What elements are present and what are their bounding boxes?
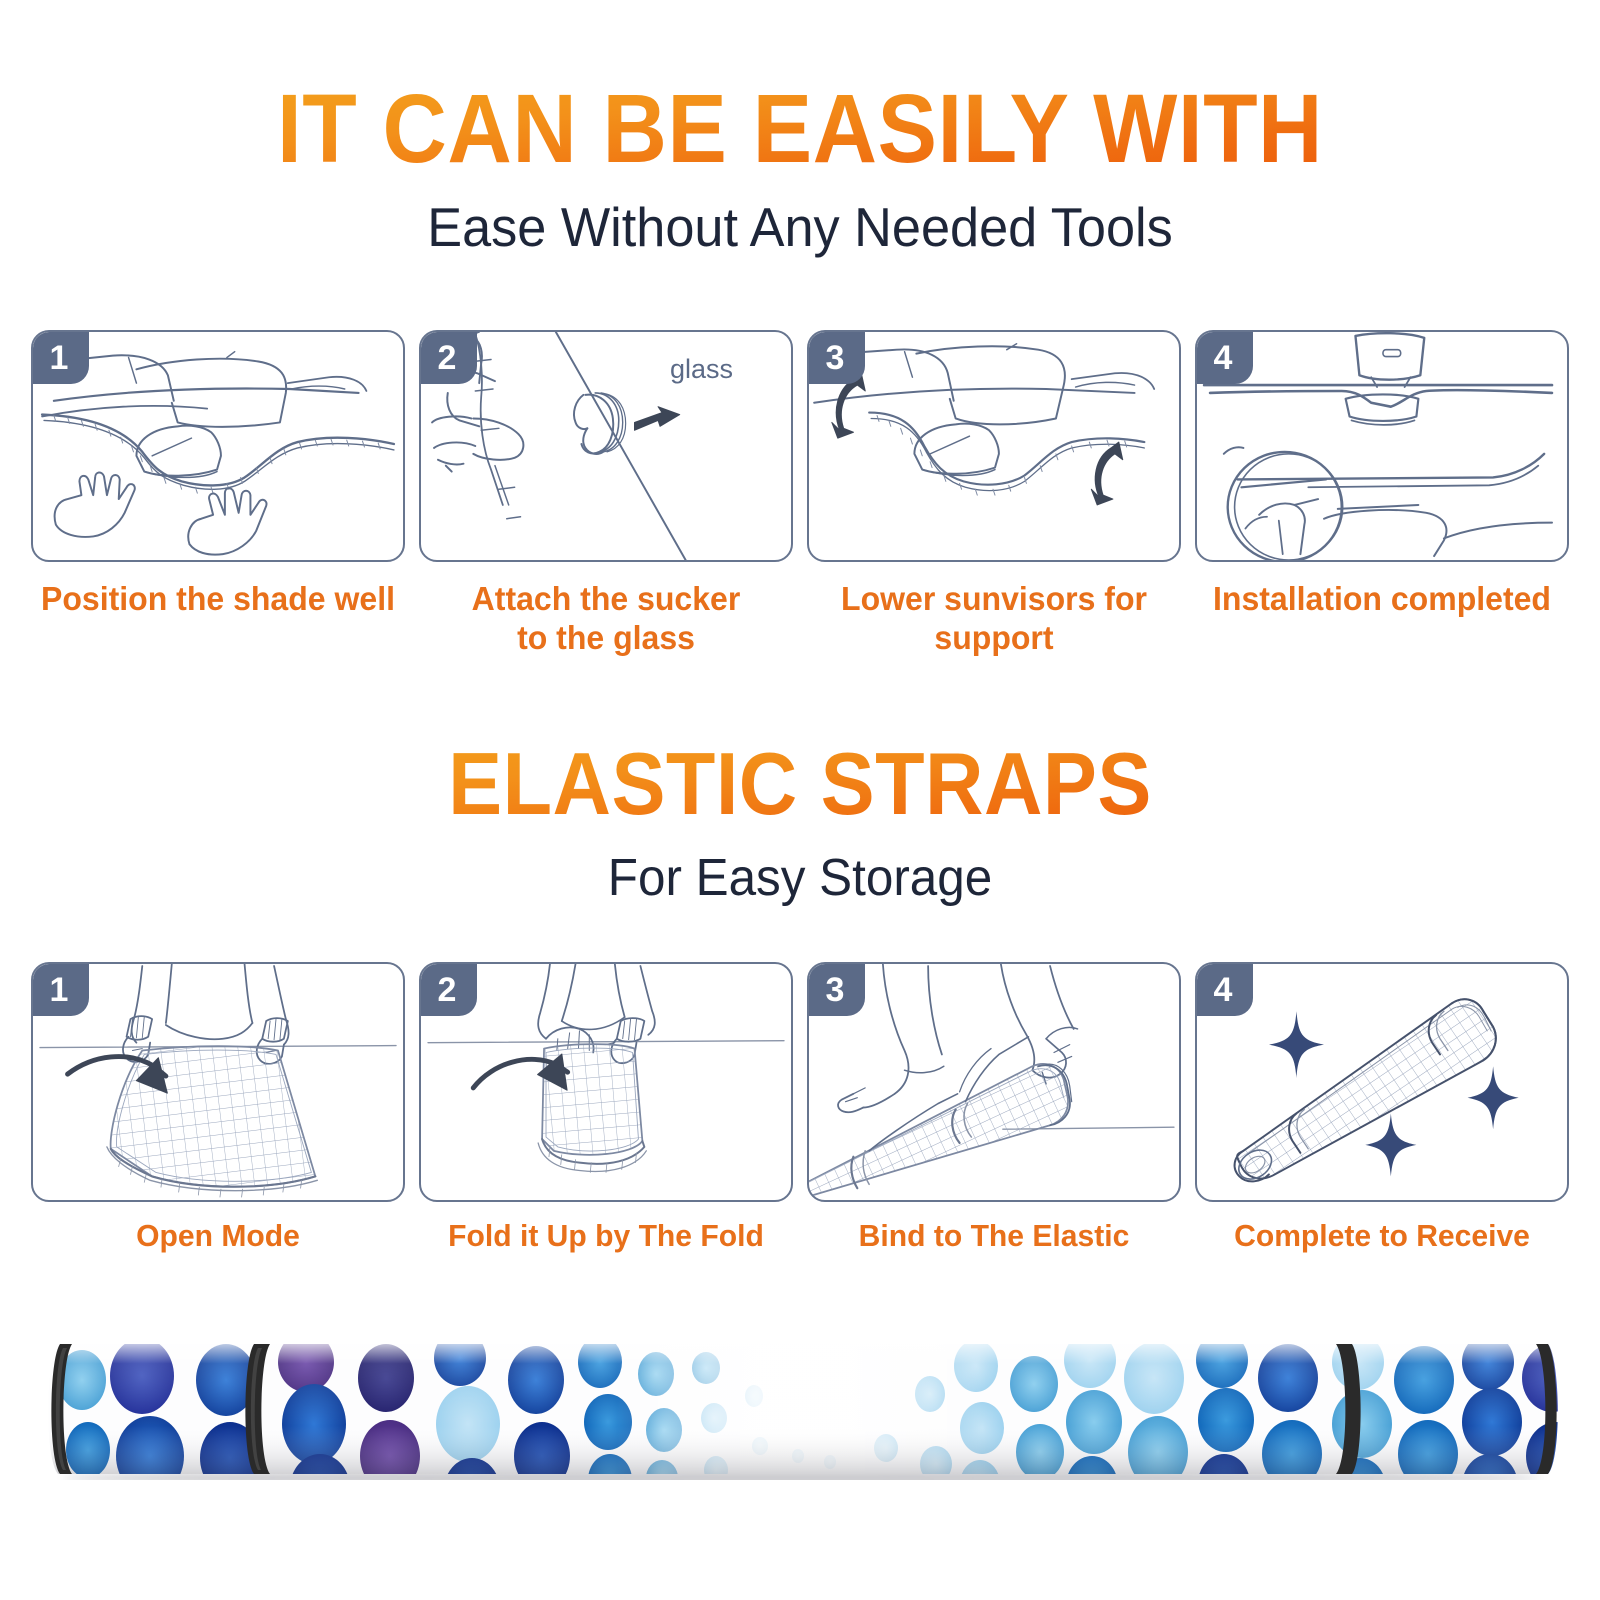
installation-title: IT CAN BE EASILY WITH xyxy=(64,80,1536,177)
step-card-storage-1: 1 xyxy=(31,962,405,1255)
step-card-install-1: 1 xyxy=(31,330,405,658)
step-caption-install-2: Attach the sucker to the glass xyxy=(425,580,788,658)
step-panel-storage-2: 2 xyxy=(419,962,793,1202)
step-card-storage-2: 2 xyxy=(419,962,793,1255)
step-card-install-2: 2 glass xyxy=(419,330,793,658)
installation-section-heading: IT CAN BE EASILY WITH Ease Without Any N… xyxy=(0,80,1600,258)
storage-steps-row: 1 xyxy=(0,962,1600,1255)
step-number-badge: 4 xyxy=(1197,332,1253,384)
step-panel-install-3: 3 xyxy=(807,330,1181,562)
step-caption-install-4: Installation completed xyxy=(1201,580,1564,619)
step-panel-storage-4: 4 xyxy=(1195,962,1569,1202)
step-number-badge: 4 xyxy=(1197,964,1253,1016)
step-card-storage-3: 3 xyxy=(807,962,1181,1255)
step-panel-install-1: 1 xyxy=(31,330,405,562)
step-caption-storage-2: Fold it Up by The Fold xyxy=(425,1218,788,1255)
storage-subtitle: For Easy Storage xyxy=(40,850,1560,907)
step-card-install-4: 4 xyxy=(1195,330,1569,658)
step-number-badge: 1 xyxy=(33,332,89,384)
installation-steps-row: 1 xyxy=(0,330,1600,658)
storage-section-heading: ELASTIC STRAPS For Easy Storage xyxy=(0,740,1600,907)
step-caption-storage-1: Open Mode xyxy=(37,1218,400,1255)
glass-annotation-label: glass xyxy=(670,354,733,385)
step-caption-install-3: Lower sunvisors for support xyxy=(813,580,1176,658)
step-number-badge: 1 xyxy=(33,964,89,1016)
step-card-install-3: 3 xyxy=(807,330,1181,658)
installation-subtitle: Ease Without Any Needed Tools xyxy=(40,197,1560,258)
step-caption-storage-3: Bind to The Elastic xyxy=(813,1218,1176,1255)
product-rolled-sunshade xyxy=(30,1338,1575,1480)
step-number-badge: 2 xyxy=(421,964,477,1016)
step-number-badge: 3 xyxy=(809,332,865,384)
step-number-badge: 2 xyxy=(421,332,477,384)
step-card-storage-4: 4 xyxy=(1195,962,1569,1255)
step-panel-storage-1: 1 xyxy=(31,962,405,1202)
step-panel-install-2: 2 glass xyxy=(419,330,793,562)
step-panel-storage-3: 3 xyxy=(807,962,1181,1202)
step-number-badge: 3 xyxy=(809,964,865,1016)
step-caption-storage-4: Complete to Receive xyxy=(1201,1218,1564,1255)
storage-title: ELASTIC STRAPS xyxy=(64,740,1536,828)
step-caption-install-1: Position the shade well xyxy=(37,580,400,619)
step-panel-install-4: 4 xyxy=(1195,330,1569,562)
